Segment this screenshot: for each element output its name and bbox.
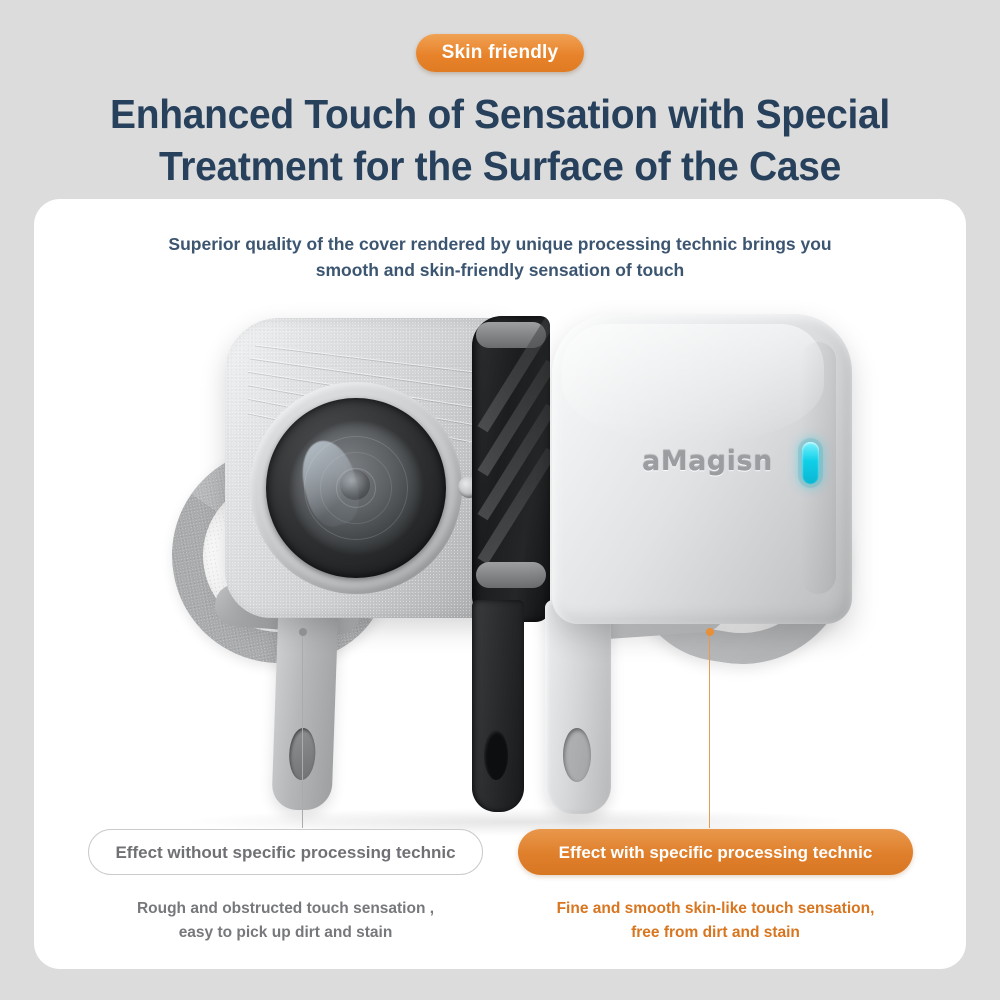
leader-dot-right (706, 628, 714, 636)
callout-pill-with-technic: Effect with specific processing technic (518, 829, 913, 875)
page-title-line-2: Treatment for the Surface of the Case (25, 140, 975, 192)
callout-caption-left: Rough and obstructed touch sensation , e… (88, 897, 483, 945)
subtitle-line-2: smooth and skin-friendly sensation of to… (0, 257, 1000, 283)
callout-caption-left-line-2: easy to pick up dirt and stain (88, 921, 483, 945)
callout-caption-right-line-2: free from dirt and stain (518, 921, 913, 945)
page-title: Enhanced Touch of Sensation with Special… (25, 88, 975, 193)
subtitle: Superior quality of the cover rendered b… (0, 231, 1000, 284)
led-indicator (802, 442, 819, 484)
callout-pill-without-technic: Effect without specific processing techn… (88, 829, 483, 875)
callout-caption-right-line-1: Fine and smooth skin-like touch sensatio… (518, 897, 913, 921)
smooth-case-body: aMagisn (552, 314, 852, 624)
leader-line-right (709, 632, 710, 828)
leader-line-left (302, 632, 303, 828)
callout-caption-left-line-1: Rough and obstructed touch sensation , (88, 897, 483, 921)
page-title-line-1: Enhanced Touch of Sensation with Special (25, 88, 975, 140)
badge-container: Skin friendly (0, 34, 1000, 72)
brand-logo: aMagisn (642, 446, 773, 477)
smooth-mount-prong (545, 600, 611, 814)
case-half-smooth: aMagisn (120, 300, 510, 830)
callout-caption-right: Fine and smooth skin-like touch sensatio… (518, 897, 913, 945)
subtitle-line-1: Superior quality of the cover rendered b… (0, 231, 1000, 257)
product-illustration: aMagisn (120, 300, 900, 830)
skin-friendly-badge: Skin friendly (416, 34, 585, 72)
leader-dot-left (299, 628, 307, 636)
